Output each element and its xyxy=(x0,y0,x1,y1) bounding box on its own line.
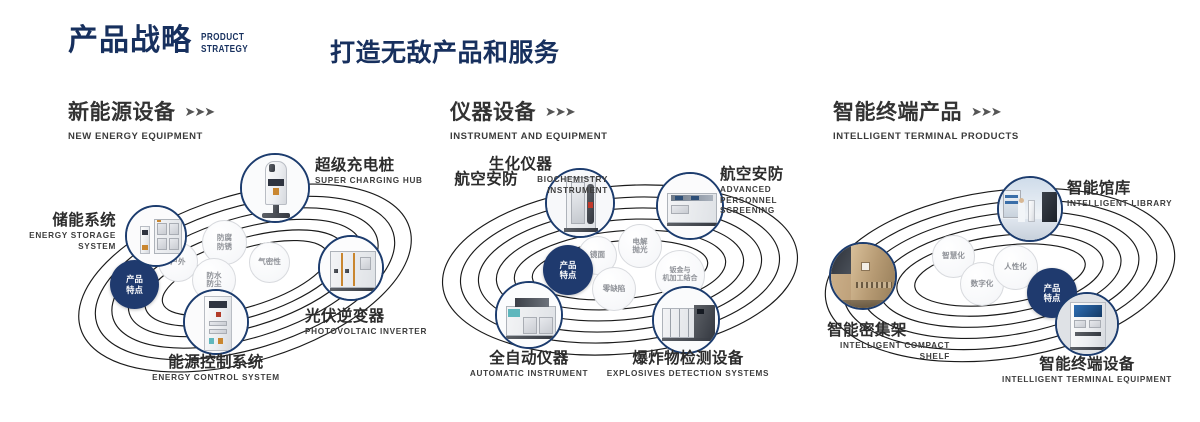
section-heading-cn: 仪器设备 xyxy=(450,96,536,126)
section-heading-instrument: 仪器设备 ➤➤➤ INSTRUMENT AND EQUIPMENT xyxy=(450,96,607,142)
section-heading-cn: 智能终端产品 xyxy=(833,96,962,126)
node-label-energy-storage-system: 储能系统 ENERGY STORAGE SYSTEM xyxy=(4,212,116,252)
node-label-explosives-detection-systems: 爆炸物检测设备 EXPLOSIVES DETECTION SYSTEMS xyxy=(593,350,783,380)
feature-bubble-label: 人性化 xyxy=(1004,263,1027,272)
node-label-en: INTELLIGENT TERMINAL EQUIPMENT xyxy=(984,375,1190,386)
node-intelligent-terminal-equipment[interactable] xyxy=(1055,292,1119,356)
feature-bubble-label: 防水 防尘 xyxy=(206,272,221,289)
section-heading-en: INSTRUMENT AND EQUIPMENT xyxy=(450,131,607,142)
node-label-cn: 能源控制系统 xyxy=(86,354,346,371)
node-label-advanced-personnel-screening: 航空安防 ADVANCED PERSONNEL SCREENING xyxy=(720,166,812,217)
cluster-new-energy: 防腐 防锈 户外 防水 防尘 气密性 产品 特点 储能系统 ENERGY STO… xyxy=(50,150,450,405)
feature-bubble-label: 镜面 xyxy=(590,251,605,260)
feature-bubble: 零缺陷 xyxy=(592,267,636,311)
node-label-en: EXPLOSIVES DETECTION SYSTEMS xyxy=(593,369,783,380)
feature-bubble-label: 零缺陷 xyxy=(603,285,626,294)
page-title-cn: 产品战略 xyxy=(68,26,192,56)
node-photovoltaic-inverter[interactable] xyxy=(318,235,384,301)
node-advanced-personnel-screening[interactable] xyxy=(656,172,724,240)
feature-bubble: 电解 抛光 xyxy=(618,224,662,268)
node-label-en: ENERGY CONTROL SYSTEM xyxy=(86,373,346,384)
chevron-right-icon: ➤➤➤ xyxy=(971,105,1001,118)
feature-bubble-label: 数字化 xyxy=(971,280,994,289)
section-heading-cn: 新能源设备 xyxy=(68,96,176,126)
section-heading-en: INTELLIGENT TERMINAL PRODUCTS xyxy=(833,131,1019,142)
page-title-en-line2: STRATEGY xyxy=(201,44,248,56)
node-super-charging-hub[interactable] xyxy=(240,153,310,223)
node-label-cn: 智能馆库 xyxy=(1067,180,1172,197)
node-label-cn: 航空安防 xyxy=(720,166,812,183)
feature-bubble-label: 电解 抛光 xyxy=(632,238,647,255)
cluster-intelligent-terminal: 智慧化 数字化 人性化 产品 特点 智能馆库 INTELLIGENT LIBRA… xyxy=(800,150,1200,405)
node-label-cn: 智能终端设备 xyxy=(984,356,1190,373)
node-label-intelligent-library: 智能馆库 INTELLIGENT LIBRARY xyxy=(1067,180,1172,210)
node-label-advanced-personnel-screening-left: 航空安防 xyxy=(398,171,518,188)
product-features-label: 产品 特点 xyxy=(560,260,577,281)
chevron-right-icon: ➤➤➤ xyxy=(185,105,215,118)
node-explosives-detection-systems[interactable] xyxy=(652,286,720,354)
feature-bubble-label: 智慧化 xyxy=(942,252,965,261)
section-heading-intelligent-terminal: 智能终端产品 ➤➤➤ INTELLIGENT TERMINAL PRODUCTS xyxy=(833,96,1019,142)
node-label-cn: 光伏逆变器 xyxy=(305,308,427,325)
node-energy-storage-system[interactable] xyxy=(125,205,187,267)
node-label-cn: 智能密集架 xyxy=(784,322,950,339)
node-label-photovoltaic-inverter: 光伏逆变器 PHOTOVOLTAIC INVERTER xyxy=(305,308,427,338)
product-features-label: 产品 特点 xyxy=(126,274,143,295)
node-label-cn: 爆炸物检测设备 xyxy=(593,350,783,367)
product-features-badge: 产品 特点 xyxy=(110,260,159,309)
node-intelligent-library[interactable] xyxy=(997,176,1063,242)
feature-bubble: 气密性 xyxy=(249,242,290,283)
node-label-en: ADVANCED PERSONNEL SCREENING xyxy=(720,185,812,217)
node-label-cn: 储能系统 xyxy=(4,212,116,229)
page-slogan: 打造无敌产品和服务 xyxy=(330,33,560,69)
chevron-right-icon: ➤➤➤ xyxy=(545,105,575,118)
node-automatic-instrument[interactable] xyxy=(495,281,563,349)
node-label-en: INTELLIGENT COMPACT SHELF xyxy=(808,341,950,362)
node-label-energy-control-system: 能源控制系统 ENERGY CONTROL SYSTEM xyxy=(86,354,346,384)
node-energy-control-system[interactable] xyxy=(183,289,249,355)
feature-bubble-label: 气密性 xyxy=(258,258,281,267)
node-intelligent-compact-shelf[interactable] xyxy=(829,242,897,310)
node-label-en: INTELLIGENT LIBRARY xyxy=(1067,199,1172,210)
feature-bubble-label: 钣金与 机加工结合 xyxy=(663,267,698,283)
section-heading-new-energy: 新能源设备 ➤➤➤ NEW ENERGY EQUIPMENT xyxy=(68,96,214,142)
page-title: 产品战略 PRODUCT STRATEGY xyxy=(68,26,261,56)
page-title-en-line1: PRODUCT xyxy=(201,32,248,44)
product-strategy-infographic: 产品战略 PRODUCT STRATEGY 打造无敌产品和服务 新能源设备 ➤➤… xyxy=(0,0,1200,422)
node-label-cn: 航空安防 xyxy=(398,171,518,188)
node-label-en: ENERGY STORAGE SYSTEM xyxy=(4,231,116,252)
node-label-intelligent-terminal-equipment: 智能终端设备 INTELLIGENT TERMINAL EQUIPMENT xyxy=(984,356,1190,386)
node-label-en: PHOTOVOLTAIC INVERTER xyxy=(305,327,427,338)
cluster-instrument: 镜面 电解 抛光 钣金与 机加工结合 零缺陷 产品 特点 生化仪器 BIOCHE… xyxy=(420,150,820,405)
node-label-intelligent-compact-shelf: 智能密集架 INTELLIGENT COMPACT SHELF xyxy=(784,322,950,362)
page-title-en: PRODUCT STRATEGY xyxy=(201,32,248,55)
feature-bubble-label: 防腐 防锈 xyxy=(217,234,232,251)
section-heading-en: NEW ENERGY EQUIPMENT xyxy=(68,131,214,142)
